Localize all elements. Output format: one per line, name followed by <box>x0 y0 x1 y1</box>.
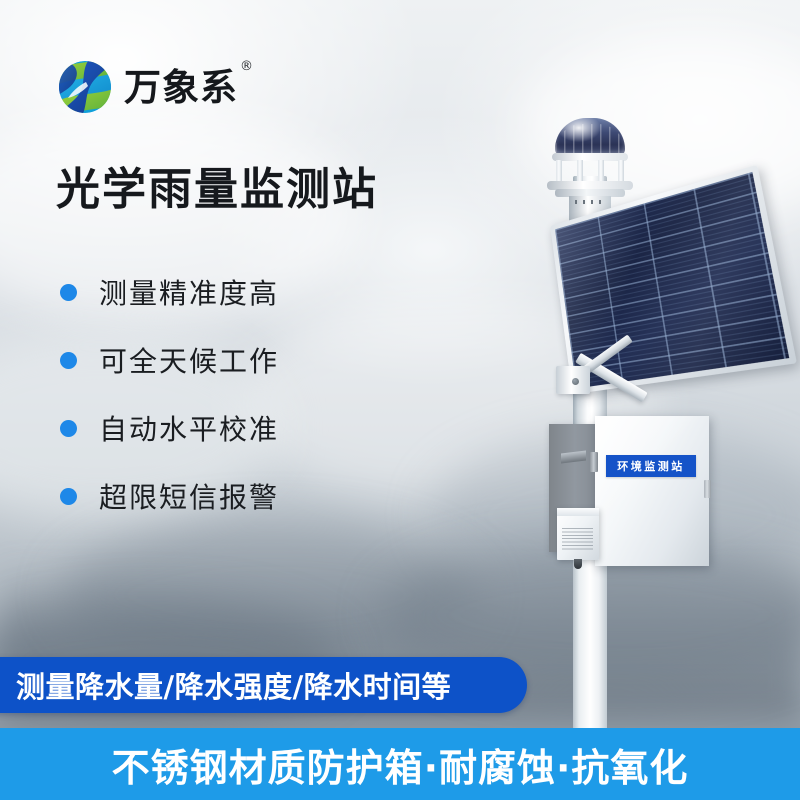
feature-label: 超限短信报警 <box>99 476 279 516</box>
feature-list: 测量精准度高 可全天候工作 自动水平校准 超限短信报警 <box>60 258 279 530</box>
feature-label: 自动水平校准 <box>99 408 279 448</box>
brand-logo: 万象系 ® <box>56 58 238 116</box>
bullet-dot-icon <box>60 488 77 505</box>
feature-item: 可全天候工作 <box>60 326 279 394</box>
feature-item: 测量精准度高 <box>60 258 279 326</box>
page-title: 光学雨量监测站 <box>56 168 378 212</box>
feature-item: 超限短信报警 <box>60 462 279 530</box>
feature-label: 可全天候工作 <box>99 340 279 380</box>
feature-item: 自动水平校准 <box>60 394 279 462</box>
bullet-dot-icon <box>60 352 77 369</box>
measurement-banner-text: 测量降水量/降水强度/降水时间等 <box>16 664 451 706</box>
footer-banner-text: 不锈钢材质防护箱·耐腐蚀·抗氧化 <box>112 737 689 792</box>
globe-swoosh-logo-icon <box>56 58 114 116</box>
product-poster: 环境监测站 <box>0 0 800 800</box>
measurement-banner: 测量降水量/降水强度/降水时间等 <box>0 657 527 713</box>
registered-trademark-icon: ® <box>240 60 254 73</box>
brand-name-text: 万象系 <box>124 66 238 109</box>
bullet-dot-icon <box>60 284 77 301</box>
feature-label: 测量精准度高 <box>99 272 279 312</box>
footer-banner: 不锈钢材质防护箱·耐腐蚀·抗氧化 <box>0 728 800 800</box>
brand-name: 万象系 ® <box>124 69 238 106</box>
bullet-dot-icon <box>60 420 77 437</box>
